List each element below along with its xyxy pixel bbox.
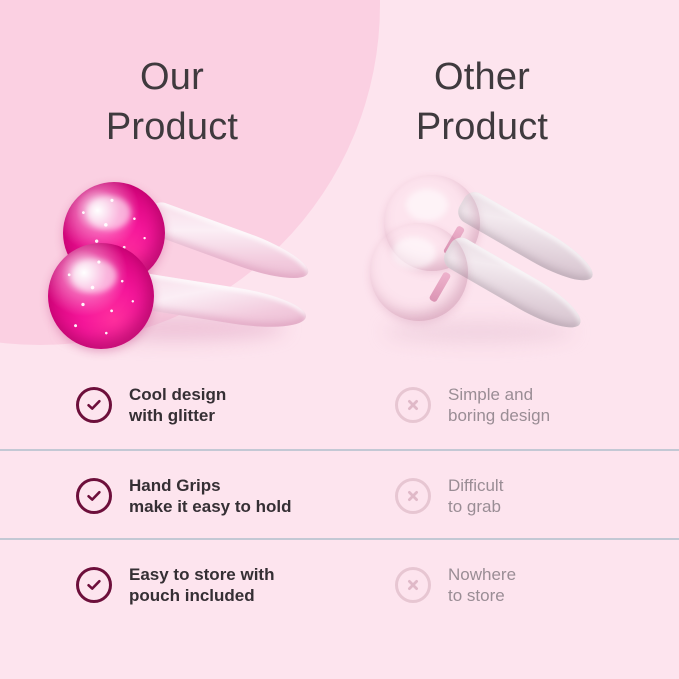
column-title-other-product: Other Product bbox=[332, 52, 632, 152]
pro-cell-2: Hand Grips make it easy to hold bbox=[76, 451, 292, 540]
cross-circle-icon bbox=[395, 387, 431, 423]
table-row: Hand Grips make it easy to hold Difficul… bbox=[0, 449, 679, 538]
con-feature-label: Simple and boring design bbox=[448, 384, 550, 426]
comparison-rows: Cool design with glitter Simple and bori… bbox=[0, 360, 679, 627]
product-photo-ours bbox=[45, 165, 345, 365]
table-row: Cool design with glitter Simple and bori… bbox=[0, 360, 679, 449]
column-title-our-product: Our Product bbox=[22, 52, 322, 152]
cross-circle-icon bbox=[395, 478, 431, 514]
check-circle-icon bbox=[76, 387, 112, 423]
con-cell-2: Difficult to grab bbox=[395, 451, 503, 540]
pro-feature-label: Hand Grips make it easy to hold bbox=[129, 475, 292, 517]
cross-circle-icon bbox=[395, 567, 431, 603]
check-circle-icon bbox=[76, 567, 112, 603]
table-row: Easy to store with pouch included Nowher… bbox=[0, 538, 679, 627]
con-feature-label: Nowhere to store bbox=[448, 564, 516, 606]
product-photo-theirs bbox=[370, 165, 620, 365]
con-cell-1: Simple and boring design bbox=[395, 360, 550, 449]
con-feature-label: Difficult to grab bbox=[448, 475, 503, 517]
pro-cell-3: Easy to store with pouch included bbox=[76, 540, 274, 629]
pro-feature-label: Easy to store with pouch included bbox=[129, 564, 274, 606]
con-cell-3: Nowhere to store bbox=[395, 540, 516, 629]
pro-cell-1: Cool design with glitter bbox=[76, 360, 226, 449]
comparison-infographic: Our Product Other Product bbox=[0, 0, 679, 679]
pro-feature-label: Cool design with glitter bbox=[129, 384, 226, 426]
check-circle-icon bbox=[76, 478, 112, 514]
